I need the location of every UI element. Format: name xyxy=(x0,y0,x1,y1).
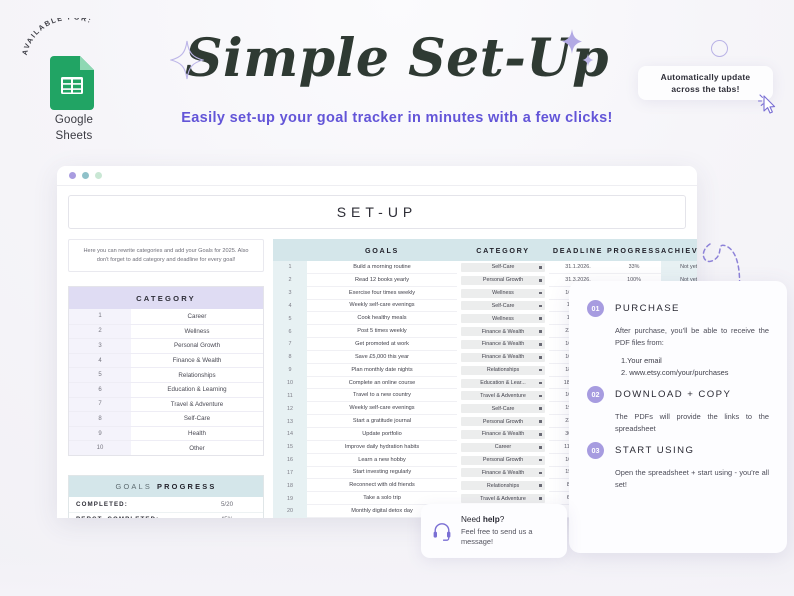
window-dot-3[interactable] xyxy=(95,172,102,179)
category-dropdown[interactable]: Personal Growth xyxy=(461,417,545,426)
row-index: 4 xyxy=(273,300,307,313)
category-dropdown-value: Finance & Wealth xyxy=(482,329,524,335)
category-cell[interactable]: Education & Lear... xyxy=(457,377,549,390)
category-dropdown[interactable]: Relationships xyxy=(461,366,545,375)
category-dropdown-value: Finance & Wealth xyxy=(482,431,524,437)
chevron-down-icon xyxy=(539,279,542,282)
category-row-number: 8 xyxy=(69,412,131,426)
chevron-down-icon xyxy=(539,305,542,308)
category-cell[interactable]: Wellness xyxy=(457,287,549,300)
instruction-step: 02DOWNLOAD + COPYThe PDFs will provide t… xyxy=(587,386,769,434)
circle-decoration xyxy=(711,40,728,57)
category-row-value[interactable]: Career xyxy=(131,309,263,324)
goal-cell[interactable]: Read 12 books yearly xyxy=(307,274,457,287)
goal-cell[interactable]: Post 5 times weekly xyxy=(307,325,457,338)
goal-cell[interactable]: Update portfolio xyxy=(307,428,457,441)
category-row-value[interactable]: Personal Growth xyxy=(131,339,263,353)
category-dropdown-value: Relationships xyxy=(487,483,519,489)
category-dropdown[interactable]: Career xyxy=(461,443,545,452)
chevron-down-icon xyxy=(539,433,542,436)
chevron-down-icon xyxy=(539,446,542,449)
category-row-value[interactable]: Other xyxy=(131,441,263,455)
category-row-value[interactable]: Wellness xyxy=(131,325,263,339)
sheet-title: SET-UP xyxy=(337,204,418,220)
row-index: 13 xyxy=(273,415,307,428)
category-dropdown-value: Wellness xyxy=(492,290,514,296)
step-number-badge: 01 xyxy=(587,300,604,317)
click-cursor-icon xyxy=(757,92,779,116)
chevron-down-icon xyxy=(539,317,542,320)
achieved-cell: Not yet! xyxy=(661,261,697,274)
sparkle-icon xyxy=(561,28,583,55)
row-index: 14 xyxy=(273,428,307,441)
row-index: 7 xyxy=(273,338,307,351)
category-row-value[interactable]: Health xyxy=(131,427,263,441)
category-row-number: 7 xyxy=(69,398,131,412)
category-cell[interactable]: Personal Growth xyxy=(457,274,549,287)
row-index: 2 xyxy=(273,274,307,287)
goal-cell[interactable]: Weekly self-care evenings xyxy=(307,300,457,313)
category-row[interactable]: 6Education & Learning xyxy=(69,382,263,397)
category-dropdown-value: Finance & Wealth xyxy=(482,341,524,347)
category-cell[interactable]: Self-Care xyxy=(457,261,549,274)
category-dropdown-value: Relationships xyxy=(487,367,519,373)
step-list-item: 1.Your email xyxy=(621,355,769,367)
headset-icon xyxy=(432,521,452,541)
category-row-value[interactable]: Relationships xyxy=(131,368,263,382)
row-index: 8 xyxy=(273,351,307,364)
row-index: 17 xyxy=(273,467,307,480)
category-row-value[interactable]: Education & Learning xyxy=(131,383,263,397)
category-cell[interactable]: Self-Care xyxy=(457,300,549,313)
category-row-number: 1 xyxy=(69,309,131,324)
chevron-down-icon xyxy=(539,395,542,398)
category-dropdown-value: Wellness xyxy=(492,316,514,322)
category-row[interactable]: 1Career xyxy=(69,309,263,324)
category-row[interactable]: 9Health xyxy=(69,426,263,441)
category-cell[interactable]: Personal Growth xyxy=(457,415,549,428)
col-progress: PROGRESS xyxy=(607,246,661,255)
row-index: 11 xyxy=(273,389,307,402)
sparkle-icon xyxy=(170,40,204,80)
category-dropdown-value: Personal Growth xyxy=(483,457,523,463)
goal-cell[interactable]: Get promoted at work xyxy=(307,338,457,351)
category-cell[interactable]: Travel & Adventure xyxy=(457,389,549,402)
category-dropdown[interactable]: Personal Growth xyxy=(461,276,545,285)
goal-cell[interactable]: Travel to a new country xyxy=(307,389,457,402)
step-title: DOWNLOAD + COPY xyxy=(615,389,731,400)
step-header: 01PURCHASE xyxy=(587,300,769,317)
category-dropdown[interactable]: Travel & Adventure xyxy=(461,494,545,503)
category-cell[interactable]: Finance & Wealth xyxy=(457,351,549,364)
progress-cell: 33% xyxy=(607,261,661,274)
category-dropdown[interactable]: Finance & Wealth xyxy=(461,353,545,362)
category-row[interactable]: 2Wellness xyxy=(69,324,263,339)
category-cell[interactable]: Self-Care xyxy=(457,402,549,415)
chevron-down-icon xyxy=(539,356,542,359)
goals-progress-label: PERCT. COMPLETED: xyxy=(69,513,191,518)
category-dropdown[interactable]: Education & Lear... xyxy=(461,379,545,388)
category-cell[interactable]: Personal Growth xyxy=(457,454,549,467)
category-table-header: CATEGORY xyxy=(69,287,263,309)
goals-progress-row: COMPLETED:5/20 xyxy=(69,497,263,512)
category-row-value[interactable]: Finance & Wealth xyxy=(131,354,263,368)
chevron-down-icon xyxy=(539,330,542,333)
row-index: 6 xyxy=(273,325,307,338)
need-help-card[interactable]: Need help? Feel free to send us a messag… xyxy=(421,504,567,558)
goal-cell[interactable]: Exercise four times weekly xyxy=(307,287,457,300)
category-dropdown-value: Self-Care xyxy=(492,406,515,412)
col-achieved: ACHIEVED? xyxy=(661,246,697,255)
category-dropdown-value: Education & Lear... xyxy=(480,380,526,386)
goal-cell[interactable]: Weekly self-care evenings xyxy=(307,402,457,415)
goals-table-header: GOALS CATEGORY DEADLINE PROGRESS ACHIEVE… xyxy=(273,239,697,261)
category-dropdown[interactable]: Personal Growth xyxy=(461,456,545,465)
step-number-badge: 02 xyxy=(587,386,604,403)
category-dropdown-value: Finance & Wealth xyxy=(482,354,524,360)
category-dropdown-value: Finance & Wealth xyxy=(482,470,524,476)
goals-progress-header: GOALS PROGRESS xyxy=(69,476,263,497)
step-body: After purchase, you'll be able to receiv… xyxy=(615,325,769,348)
category-dropdown[interactable]: Finance & Wealth xyxy=(461,468,545,477)
category-row-value[interactable]: Self-Care xyxy=(131,412,263,426)
gs-label-line2: Sheets xyxy=(55,130,92,142)
instruction-step: 01PURCHASEAfter purchase, you'll be able… xyxy=(587,300,769,378)
chevron-down-icon xyxy=(539,472,542,475)
goals-progress-table: GOALS PROGRESS COMPLETED:5/20PERCT. COMP… xyxy=(68,475,264,518)
row-index: 1 xyxy=(273,261,307,274)
category-row-number: 3 xyxy=(69,339,131,353)
category-dropdown[interactable]: Wellness xyxy=(461,314,545,323)
hint-box: Here you can rewrite categories and add … xyxy=(68,239,264,272)
chevron-down-icon xyxy=(539,292,542,295)
window-titlebar xyxy=(57,166,697,186)
category-row[interactable]: 10Other xyxy=(69,440,263,455)
category-table: CATEGORY 1Career2Wellness3Personal Growt… xyxy=(68,286,264,456)
col-deadline: DEADLINE xyxy=(549,246,607,255)
category-row[interactable]: 8Self-Care xyxy=(69,411,263,426)
category-row-number: 4 xyxy=(69,354,131,368)
category-dropdown-value: Self-Care xyxy=(492,303,515,309)
category-dropdown[interactable]: Self-Care xyxy=(461,404,545,413)
category-row-number: 5 xyxy=(69,368,131,382)
chevron-down-icon xyxy=(539,382,542,385)
chevron-down-icon xyxy=(539,497,542,500)
step-list: 1.Your email2. www.etsy.com/your/purchas… xyxy=(621,355,769,378)
window-dot-1[interactable] xyxy=(69,172,76,179)
col-category: CATEGORY xyxy=(457,246,549,255)
step-header: 03START USING xyxy=(587,442,769,459)
goal-cell[interactable]: Build a morning routine xyxy=(307,261,457,274)
step-title: PURCHASE xyxy=(615,303,680,314)
category-header-label: CATEGORY xyxy=(136,294,196,303)
step-header: 02DOWNLOAD + COPY xyxy=(587,386,769,403)
left-panel: Here you can rewrite categories and add … xyxy=(68,239,264,518)
category-row-number: 6 xyxy=(69,383,131,397)
goals-progress-value: 45% xyxy=(191,513,263,518)
chevron-down-icon xyxy=(539,484,542,487)
category-row[interactable]: 5Relationships xyxy=(69,367,263,382)
help-body: Feel free to send us a message! xyxy=(461,527,556,548)
chevron-down-icon xyxy=(539,459,542,462)
row-index: 15 xyxy=(273,441,307,454)
row-index: 3 xyxy=(273,287,307,300)
goals-progress-label: COMPLETED: xyxy=(69,497,191,512)
help-title-pre: Need xyxy=(461,515,483,524)
row-index: 12 xyxy=(273,402,307,415)
category-row[interactable]: 3Personal Growth xyxy=(69,338,263,353)
category-cell[interactable]: Finance & Wealth xyxy=(457,428,549,441)
category-cell[interactable]: Finance & Wealth xyxy=(457,325,549,338)
goal-cell[interactable]: Complete an online course xyxy=(307,377,457,390)
col-goals: GOALS xyxy=(307,246,457,255)
category-dropdown-value: Travel & Adventure xyxy=(480,393,526,399)
row-index: 19 xyxy=(273,492,307,505)
chevron-down-icon xyxy=(539,420,542,423)
category-dropdown-value: Career xyxy=(495,444,511,450)
goal-cell[interactable]: Plan monthly date nights xyxy=(307,364,457,377)
row-index: 16 xyxy=(273,454,307,467)
category-cell[interactable]: Relationships xyxy=(457,364,549,377)
step-body: The PDFs will provide the links to the s… xyxy=(615,411,769,434)
category-cell[interactable]: Relationships xyxy=(457,479,549,492)
goal-cell[interactable]: Start a gratitude journal xyxy=(307,415,457,428)
category-dropdown-value: Self-Care xyxy=(492,264,515,270)
help-title: Need help? xyxy=(461,515,556,524)
category-cell[interactable]: Finance & Wealth xyxy=(457,467,549,480)
goal-cell[interactable]: Start investing regularly xyxy=(307,467,457,480)
category-dropdown-value: Personal Growth xyxy=(483,419,523,425)
row-index: 18 xyxy=(273,479,307,492)
step-number-badge: 03 xyxy=(587,442,604,459)
category-row[interactable]: 4Finance & Wealth xyxy=(69,353,263,368)
row-index: 20 xyxy=(273,505,307,518)
chevron-down-icon xyxy=(539,266,542,269)
sparkle-small-icon xyxy=(582,53,594,67)
goal-cell[interactable]: Cook healthy meals xyxy=(307,312,457,325)
help-title-post: ? xyxy=(500,515,505,524)
row-index: 5 xyxy=(273,312,307,325)
category-row[interactable]: 7Travel & Adventure xyxy=(69,397,263,412)
help-title-bold: help xyxy=(483,515,500,524)
goal-cell[interactable]: Save £5,000 this year xyxy=(307,351,457,364)
goal-cell[interactable]: Learn a new hobby xyxy=(307,454,457,467)
category-dropdown[interactable]: Finance & Wealth xyxy=(461,340,545,349)
category-row-value[interactable]: Travel & Adventure xyxy=(131,398,263,412)
goals-progress-row: PERCT. COMPLETED:45% xyxy=(69,512,263,518)
category-dropdown[interactable]: Relationships xyxy=(461,481,545,490)
auto-update-badge: Automatically update across the tabs! xyxy=(638,66,773,100)
chevron-down-icon xyxy=(539,343,542,346)
category-dropdown-value: Personal Growth xyxy=(483,277,523,283)
category-dropdown[interactable]: Finance & Wealth xyxy=(461,430,545,439)
row-index: 9 xyxy=(273,364,307,377)
goal-cell[interactable]: Reconnect with old friends xyxy=(307,479,457,492)
gp-header-word1: GOALS xyxy=(116,482,152,491)
row-index: 10 xyxy=(273,377,307,390)
page-subtitle: Easily set-up your goal tracker in minut… xyxy=(0,110,794,126)
gp-header-word2: PROGRESS xyxy=(157,482,217,491)
chevron-down-icon xyxy=(539,407,542,410)
table-row[interactable]: 1Build a morning routineSelf-Care31.1.20… xyxy=(273,261,697,274)
instruction-step: 03START USINGOpen the spreadsheet + star… xyxy=(587,442,769,490)
window-dot-2[interactable] xyxy=(82,172,89,179)
category-cell[interactable]: Wellness xyxy=(457,312,549,325)
category-cell[interactable]: Finance & Wealth xyxy=(457,338,549,351)
auto-badge-line2: across the tabs! xyxy=(671,84,739,94)
step-body: Open the spreadsheet + start using - you… xyxy=(615,467,769,490)
category-dropdown-value: Travel & Adventure xyxy=(480,496,526,502)
category-row-number: 2 xyxy=(69,325,131,339)
goal-cell[interactable]: Improve daily hydration habits xyxy=(307,441,457,454)
step-title: START USING xyxy=(615,445,694,456)
category-dropdown[interactable]: Finance & Wealth xyxy=(461,327,545,336)
category-dropdown[interactable]: Travel & Adventure xyxy=(461,391,545,400)
category-row-number: 9 xyxy=(69,427,131,441)
deadline-cell[interactable]: 31.1.2026. xyxy=(549,261,607,274)
category-dropdown[interactable]: Self-Care xyxy=(461,301,545,310)
instructions-card: 01PURCHASEAfter purchase, you'll be able… xyxy=(569,281,787,553)
goals-progress-value: 5/20 xyxy=(191,497,263,512)
category-row-number: 10 xyxy=(69,441,131,455)
category-dropdown[interactable]: Wellness xyxy=(461,289,545,298)
hint-text: Here you can rewrite categories and add … xyxy=(77,247,255,264)
chevron-down-icon xyxy=(539,369,542,372)
auto-badge-line1: Automatically update xyxy=(661,72,751,82)
sheet-title-bar: SET-UP xyxy=(68,195,686,229)
category-dropdown[interactable]: Self-Care xyxy=(461,263,545,272)
category-cell[interactable]: Career xyxy=(457,441,549,454)
step-list-item[interactable]: 2. www.etsy.com/your/purchases xyxy=(621,367,769,379)
